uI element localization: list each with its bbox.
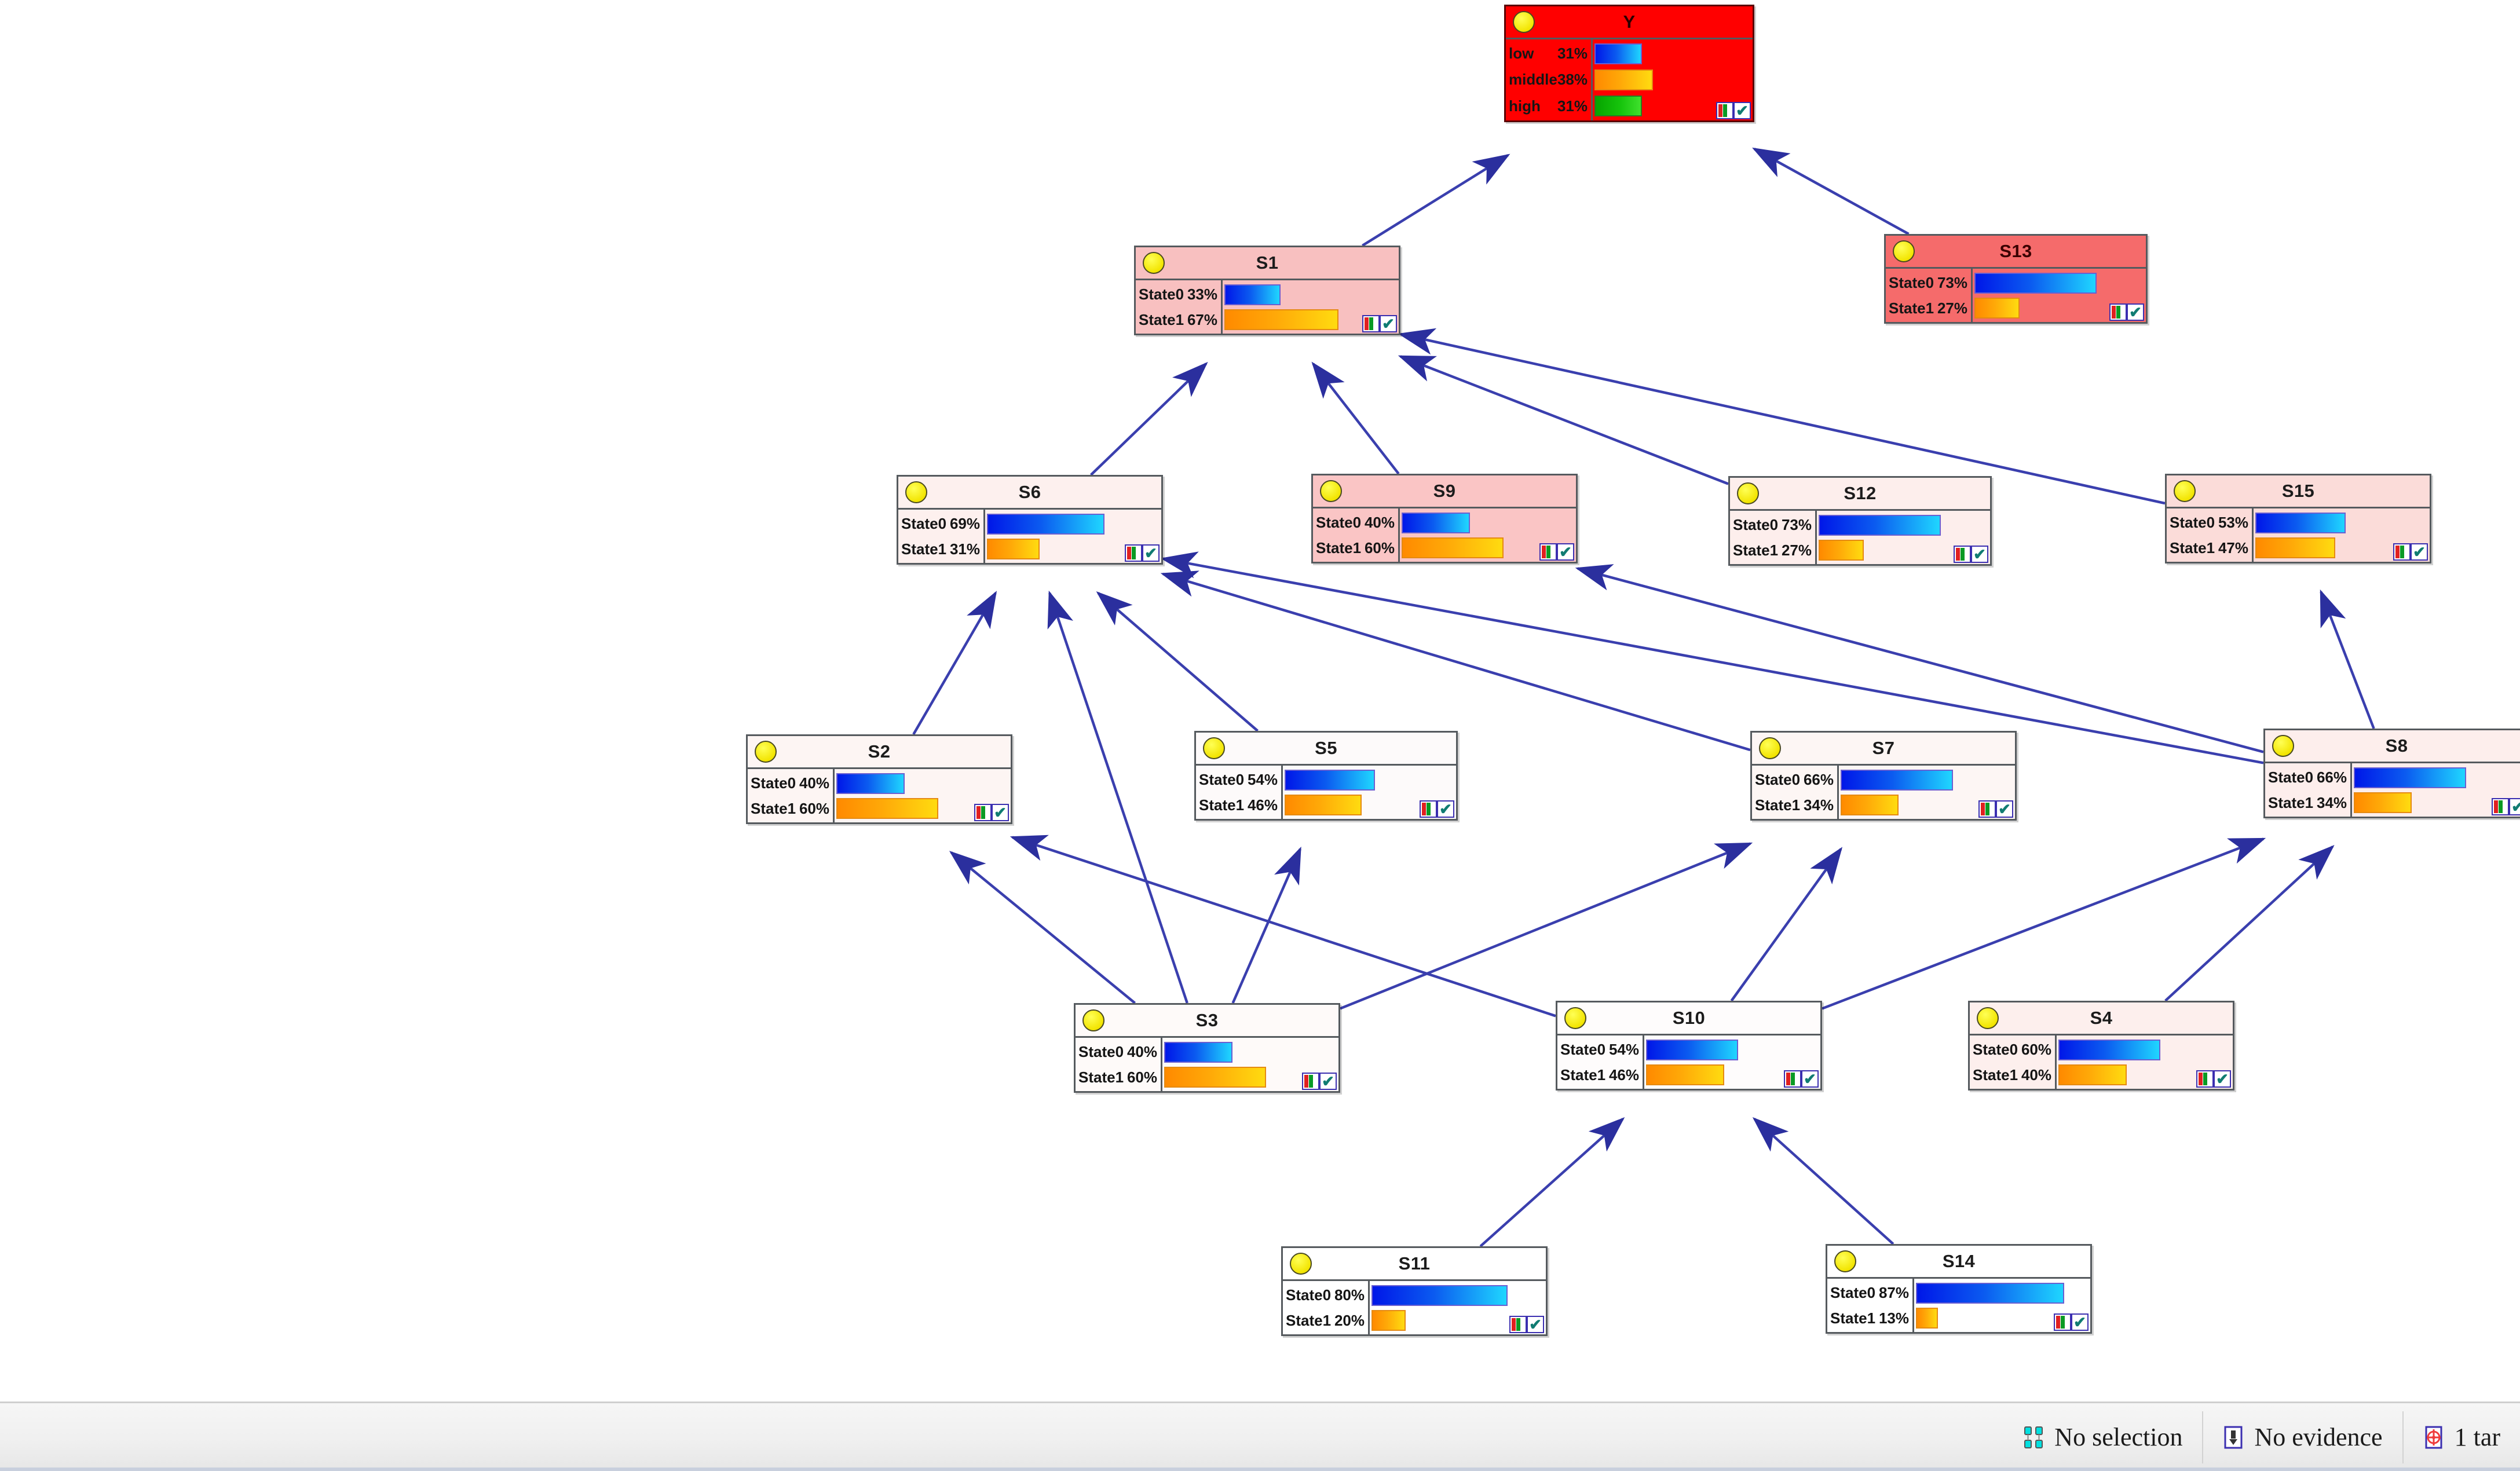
monitor-grid-icon[interactable] — [1954, 546, 1971, 563]
state-bar-row — [1973, 272, 2146, 294]
node-header: S9 — [1313, 475, 1576, 508]
state-bar-orange — [2354, 792, 2412, 813]
state-bar-row — [1817, 514, 1990, 536]
edge-s12-to-s1 — [1400, 356, 1728, 484]
state-bar-blue — [1974, 273, 2097, 294]
node-state-labels: low31%middle38%high31% — [1506, 39, 1593, 120]
node-header: S1 — [1136, 247, 1399, 280]
bayesian-network-canvas[interactable]: Ylow31%middle38%high31%✔S1State033%State… — [0, 0, 2520, 1402]
node-header: S5 — [1196, 733, 1456, 766]
node-body: State073%State127%✔ — [1886, 269, 2146, 322]
node-title: S2 — [748, 736, 1011, 767]
state-label: high — [1509, 97, 1541, 115]
state-row: State054% — [1199, 771, 1281, 789]
node-state-labels: State040%State160% — [1313, 508, 1400, 562]
state-label: State1 — [1286, 1312, 1331, 1330]
state-label: State0 — [2170, 514, 2215, 532]
node-header: S14 — [1827, 1246, 2090, 1279]
state-bar-row — [985, 513, 1161, 535]
node-header: S15 — [2167, 475, 2430, 508]
edge-s3-to-s6 — [1049, 593, 1187, 1003]
state-bar-orange — [1841, 795, 1899, 815]
state-percent: 80% — [1334, 1286, 1365, 1304]
node-state-bars: ✔ — [1370, 1281, 1546, 1334]
edge-s4-to-s8 — [2166, 847, 2333, 1001]
edge-s3-to-s2 — [951, 852, 1135, 1003]
state-percent: 13% — [1879, 1309, 1909, 1327]
state-bar-row — [1644, 1039, 1820, 1061]
monitor-grid-icon[interactable] — [1509, 1316, 1527, 1333]
state-row: State160% — [751, 800, 833, 818]
state-bar-orange — [1819, 540, 1864, 561]
state-label: State1 — [1755, 796, 1800, 814]
node-body: State087%State113%✔ — [1827, 1279, 2090, 1332]
node-tools[interactable]: ✔ — [1302, 1073, 1337, 1090]
state-percent: 47% — [2218, 539, 2248, 557]
node-tools[interactable]: ✔ — [2109, 303, 2144, 321]
state-bar-orange — [1594, 69, 1653, 90]
state-bar-orange — [1916, 1308, 1938, 1329]
state-label: State0 — [1560, 1041, 1605, 1059]
node-header: S11 — [1283, 1248, 1546, 1281]
node-tools[interactable]: ✔ — [1362, 315, 1397, 332]
state-bar-row — [1370, 1285, 1546, 1307]
state-bar-row — [1283, 769, 1456, 791]
check-icon[interactable]: ✔ — [1527, 1316, 1544, 1333]
node-title: S15 — [2167, 475, 2430, 507]
node-body: State040%State160%✔ — [748, 769, 1011, 822]
node-state-labels: State033%State167% — [1136, 280, 1223, 334]
check-icon[interactable]: ✔ — [1996, 800, 2013, 818]
status-bar: No selection No evidence 1 tar — [0, 1402, 2520, 1471]
node-y[interactable]: Ylow31%middle38%high31%✔ — [1504, 5, 1754, 122]
state-percent: 20% — [1334, 1312, 1365, 1330]
edge-s3-to-s7 — [1340, 844, 1750, 1009]
node-tools[interactable]: ✔ — [2393, 543, 2428, 561]
state-percent: 66% — [1804, 771, 1834, 789]
node-s2[interactable]: S2State040%State160%✔ — [746, 734, 1012, 824]
state-bar-row — [2254, 512, 2430, 534]
state-percent: 27% — [1782, 541, 1812, 559]
state-row: State167% — [1139, 311, 1221, 329]
state-bar-blue — [1916, 1283, 2064, 1304]
state-label: State0 — [2268, 769, 2313, 786]
monitor-grid-icon[interactable] — [1420, 800, 1437, 818]
state-row: State087% — [1830, 1284, 1912, 1302]
monitor-grid-icon[interactable] — [1716, 102, 1733, 119]
monitor-grid-icon[interactable] — [1978, 800, 1996, 818]
node-state-labels: State073%State127% — [1730, 511, 1817, 564]
status-selection-label: No selection — [2054, 1422, 2182, 1452]
state-bar-row — [835, 773, 1011, 795]
monitor-grid-icon[interactable] — [974, 804, 992, 821]
status-target-cell[interactable]: 1 tar — [2402, 1411, 2520, 1463]
state-percent: 31% — [1557, 45, 1588, 63]
node-tools[interactable]: ✔ — [1539, 543, 1574, 561]
node-s12[interactable]: S12State073%State127%✔ — [1728, 476, 1992, 566]
node-tools[interactable]: ✔ — [2054, 1313, 2089, 1331]
state-bar-orange — [1164, 1067, 1266, 1088]
node-tools[interactable]: ✔ — [2196, 1070, 2231, 1088]
state-label: State0 — [1973, 1041, 2018, 1059]
state-row: State134% — [2268, 794, 2350, 812]
state-percent: 33% — [1187, 286, 1217, 303]
edge-s10-to-s8 — [1822, 839, 2263, 1008]
state-row: State033% — [1139, 286, 1221, 303]
node-body: State053%State147%✔ — [2167, 508, 2430, 562]
check-icon[interactable]: ✔ — [1319, 1073, 1337, 1090]
state-bar-row — [1914, 1282, 2090, 1304]
state-bar-row — [1593, 69, 1753, 91]
node-state-bars: ✔ — [1223, 280, 1399, 334]
state-bar-blue — [1224, 284, 1281, 305]
state-percent: 54% — [1248, 771, 1278, 789]
state-label: State0 — [1733, 516, 1778, 534]
monitor-grid-icon[interactable] — [2109, 303, 2127, 321]
state-label: State1 — [2268, 794, 2313, 812]
state-percent: 40% — [1365, 514, 1395, 532]
check-icon[interactable]: ✔ — [1733, 102, 1751, 119]
state-row: State066% — [2268, 769, 2350, 786]
state-row: State080% — [1286, 1286, 1368, 1304]
check-icon[interactable]: ✔ — [1142, 544, 1160, 562]
state-row: State073% — [1733, 516, 1815, 534]
state-bar-blue — [1841, 770, 1953, 791]
node-title: S10 — [1557, 1002, 1820, 1034]
state-row: State066% — [1755, 771, 1837, 789]
state-row: State127% — [1733, 541, 1815, 559]
state-label: State1 — [1560, 1066, 1605, 1084]
state-row: State120% — [1286, 1312, 1368, 1330]
edge-s7-to-s6 — [1163, 574, 1750, 750]
state-bar-orange — [836, 798, 938, 819]
node-header: S13 — [1886, 236, 2146, 269]
edge-s10-to-s2 — [1012, 837, 1556, 1016]
node-s10[interactable]: S10State054%State146%✔ — [1556, 1001, 1822, 1091]
state-bar-blue — [1371, 1285, 1508, 1306]
node-s1[interactable]: S1State033%State167%✔ — [1134, 246, 1400, 335]
edge-s13-to-y — [1754, 149, 1908, 234]
state-bar-blue — [836, 773, 905, 794]
state-percent: 27% — [1937, 299, 1967, 317]
state-percent: 31% — [1557, 97, 1588, 115]
state-percent: 40% — [1127, 1043, 1157, 1061]
node-title: S4 — [1970, 1002, 2233, 1034]
node-state-labels: State066%State134% — [1752, 766, 1839, 819]
state-bar-row — [1593, 43, 1753, 65]
state-bar-orange — [1371, 1310, 1406, 1331]
monitor-grid-icon[interactable] — [1539, 543, 1557, 561]
node-state-bars: ✔ — [2352, 763, 2520, 817]
state-row: State146% — [1560, 1066, 1643, 1084]
node-state-bars: ✔ — [1283, 766, 1456, 819]
node-title: S1 — [1136, 247, 1399, 279]
state-percent: 46% — [1248, 796, 1278, 814]
node-title: S7 — [1752, 733, 2015, 764]
state-label: State1 — [1199, 796, 1244, 814]
state-row: low31% — [1509, 45, 1591, 63]
node-title: S11 — [1283, 1248, 1546, 1279]
node-title: S9 — [1313, 475, 1576, 507]
check-icon[interactable]: ✔ — [2214, 1070, 2231, 1088]
state-label: State1 — [901, 540, 946, 558]
edge-s6-to-s1 — [1091, 364, 1206, 475]
state-bar-orange — [2255, 537, 2335, 558]
node-s11[interactable]: S11State080%State120%✔ — [1281, 1246, 1548, 1336]
state-row: State127% — [1889, 299, 1971, 317]
monitor-grid-icon[interactable] — [2196, 1070, 2214, 1088]
state-bar-blue — [1402, 513, 1470, 533]
state-label: State1 — [1316, 539, 1361, 557]
state-label: State0 — [1316, 514, 1361, 532]
state-label: State0 — [751, 774, 796, 792]
state-row: State134% — [1755, 796, 1837, 814]
node-title: S3 — [1076, 1005, 1338, 1036]
state-row: middle38% — [1509, 71, 1591, 89]
node-state-bars: ✔ — [1817, 511, 1990, 564]
state-bar-blue — [1594, 43, 1642, 64]
monitor-grid-icon[interactable] — [2492, 798, 2509, 815]
edge-s8-to-s9 — [1578, 569, 2263, 752]
check-icon[interactable]: ✔ — [2127, 303, 2144, 321]
node-body: State066%State134%✔ — [2265, 763, 2520, 817]
edge-s2-to-s6 — [913, 593, 996, 734]
check-icon[interactable]: ✔ — [2411, 543, 2428, 561]
node-body: low31%middle38%high31%✔ — [1506, 39, 1753, 120]
node-state-labels: State073%State127% — [1886, 269, 1973, 322]
state-label: low — [1509, 45, 1534, 63]
node-tools[interactable]: ✔ — [974, 804, 1009, 821]
state-percent: 69% — [950, 515, 980, 533]
node-title: S5 — [1196, 733, 1456, 764]
monitor-grid-icon[interactable] — [1362, 315, 1380, 332]
node-tools[interactable]: ✔ — [1420, 800, 1454, 818]
node-state-labels: State060%State140% — [1970, 1035, 2057, 1089]
state-bar-orange — [1974, 298, 2020, 319]
node-state-labels: State080%State120% — [1283, 1281, 1370, 1334]
edge-s10-to-s7 — [1732, 849, 1841, 1001]
state-bar-row — [1162, 1041, 1338, 1063]
node-s8[interactable]: S8State066%State134%✔ — [2263, 729, 2520, 818]
state-label: State0 — [1199, 771, 1244, 789]
check-icon[interactable]: ✔ — [2509, 798, 2520, 815]
node-body: State066%State134%✔ — [1752, 766, 2015, 819]
node-header: Y — [1506, 6, 1753, 39]
state-row: State040% — [1078, 1043, 1161, 1061]
node-state-bars: ✔ — [2057, 1035, 2233, 1089]
edge-s11-to-s10 — [1480, 1119, 1623, 1246]
node-s7[interactable]: S7State066%State134%✔ — [1750, 731, 2017, 821]
node-s15[interactable]: S15State053%State147%✔ — [2165, 474, 2431, 563]
check-icon[interactable]: ✔ — [992, 804, 1009, 821]
node-tools[interactable]: ✔ — [1125, 544, 1160, 562]
node-s14[interactable]: S14State087%State113%✔ — [1826, 1244, 2092, 1334]
state-bar-blue — [1164, 1042, 1232, 1063]
node-header: S4 — [1970, 1002, 2233, 1035]
node-state-bars: ✔ — [2254, 508, 2430, 562]
state-row: State131% — [901, 540, 983, 558]
node-s9[interactable]: S9State040%State160%✔ — [1311, 474, 1578, 563]
node-header: S12 — [1730, 478, 1990, 511]
edge-s5-to-s6 — [1098, 593, 1257, 731]
state-label: State1 — [1889, 299, 1934, 317]
state-label: State0 — [901, 515, 946, 533]
state-row: State160% — [1078, 1069, 1161, 1086]
edge-s14-to-s10 — [1754, 1119, 1893, 1244]
node-state-bars: ✔ — [835, 769, 1011, 822]
node-state-bars: ✔ — [1593, 39, 1753, 120]
node-state-bars: ✔ — [1644, 1035, 1820, 1089]
state-percent: 31% — [950, 540, 980, 558]
state-bar-row — [1839, 769, 2015, 791]
node-header: S8 — [2265, 730, 2520, 763]
monitor-grid-icon[interactable] — [1125, 544, 1142, 562]
state-bar-green — [1594, 96, 1642, 116]
node-s3[interactable]: S3State040%State160%✔ — [1074, 1003, 1340, 1093]
state-label: State1 — [1830, 1309, 1875, 1327]
node-body: State073%State127%✔ — [1730, 511, 1990, 564]
state-percent: 34% — [1804, 796, 1834, 814]
state-label: State1 — [1139, 311, 1184, 329]
node-tools[interactable]: ✔ — [1978, 800, 2013, 818]
node-state-bars: ✔ — [1973, 269, 2146, 322]
node-state-labels: State040%State160% — [1076, 1038, 1162, 1091]
state-percent: 60% — [1365, 539, 1395, 557]
edge-layer — [0, 0, 2520, 1402]
edge-s3-to-s5 — [1233, 849, 1300, 1003]
node-state-bars: ✔ — [985, 510, 1161, 563]
check-icon[interactable]: ✔ — [1437, 800, 1454, 818]
status-bar-underline — [0, 1468, 2520, 1471]
check-icon[interactable]: ✔ — [1557, 543, 1574, 561]
selection-nodes-icon — [2023, 1425, 2044, 1450]
node-state-bars: ✔ — [1162, 1038, 1338, 1091]
check-icon[interactable]: ✔ — [1380, 315, 1397, 332]
state-percent: 60% — [2021, 1041, 2051, 1059]
node-s6[interactable]: S6State069%State131%✔ — [897, 475, 1163, 565]
state-row: State073% — [1889, 274, 1971, 292]
check-icon[interactable]: ✔ — [2071, 1313, 2089, 1331]
node-state-labels: State066%State134% — [2265, 763, 2352, 817]
node-header: S7 — [1752, 733, 2015, 766]
node-tools[interactable]: ✔ — [1509, 1316, 1544, 1333]
node-body: State069%State131%✔ — [898, 510, 1161, 563]
node-title: S6 — [898, 477, 1161, 508]
node-state-bars: ✔ — [1400, 508, 1576, 562]
state-percent: 46% — [1609, 1066, 1639, 1084]
status-selection-cell[interactable]: No selection — [2003, 1411, 2202, 1463]
state-bar-row — [1400, 512, 1576, 534]
state-bar-orange — [1224, 309, 1338, 330]
state-percent: 87% — [1879, 1284, 1909, 1302]
node-header: S6 — [898, 477, 1161, 510]
edge-s9-to-s1 — [1313, 364, 1399, 474]
node-title: Y — [1506, 6, 1753, 38]
state-label: State0 — [1755, 771, 1800, 789]
state-percent: 73% — [1937, 274, 1967, 292]
state-row: State054% — [1560, 1041, 1643, 1059]
state-bar-blue — [1285, 770, 1375, 791]
node-tools[interactable]: ✔ — [1784, 1070, 1819, 1088]
state-bar-blue — [987, 514, 1104, 535]
state-label: middle — [1509, 71, 1557, 89]
node-s13[interactable]: S13State073%State127%✔ — [1884, 234, 2148, 324]
status-evidence-cell[interactable]: No evidence — [2202, 1411, 2402, 1463]
node-state-labels: State069%State131% — [898, 510, 985, 563]
node-body: State080%State120%✔ — [1283, 1281, 1546, 1334]
node-state-labels: State040%State160% — [748, 769, 835, 822]
state-bar-blue — [2354, 767, 2466, 788]
node-title: S14 — [1827, 1246, 2090, 1277]
state-percent: 60% — [799, 800, 829, 818]
state-percent: 38% — [1557, 71, 1588, 89]
node-body: State054%State146%✔ — [1196, 766, 1456, 819]
state-percent: 73% — [1782, 516, 1812, 534]
node-s4[interactable]: S4State060%State140%✔ — [1968, 1001, 2234, 1091]
state-percent: 34% — [2317, 794, 2347, 812]
state-row: State147% — [2170, 539, 2252, 557]
monitor-grid-icon[interactable] — [2054, 1313, 2071, 1331]
state-label: State1 — [1733, 541, 1778, 559]
state-row: State069% — [901, 515, 983, 533]
node-state-bars: ✔ — [1914, 1279, 2090, 1332]
monitor-grid-icon[interactable] — [2393, 543, 2411, 561]
state-row: State040% — [751, 774, 833, 792]
node-state-labels: State054%State146% — [1196, 766, 1283, 819]
evidence-icon — [2223, 1425, 2244, 1450]
state-percent: 54% — [1609, 1041, 1639, 1059]
state-bar-orange — [1646, 1064, 1724, 1085]
state-row: State053% — [2170, 514, 2252, 532]
state-row: State160% — [1316, 539, 1398, 557]
state-percent: 60% — [1127, 1069, 1157, 1086]
node-title: S12 — [1730, 478, 1990, 509]
monitor-grid-icon[interactable] — [1784, 1070, 1801, 1088]
node-title: S8 — [2265, 730, 2520, 762]
node-body: State060%State140%✔ — [1970, 1035, 2233, 1089]
state-bar-row — [1223, 284, 1399, 306]
state-percent: 53% — [2218, 514, 2248, 532]
node-body: State040%State160%✔ — [1076, 1038, 1338, 1091]
check-icon[interactable]: ✔ — [1801, 1070, 1819, 1088]
state-bar-row — [2352, 767, 2520, 789]
state-bar-blue — [1646, 1040, 1738, 1060]
node-title: S13 — [1886, 236, 2146, 267]
node-state-bars: ✔ — [1839, 766, 2015, 819]
node-body: State033%State167%✔ — [1136, 280, 1399, 334]
node-header: S3 — [1076, 1005, 1338, 1038]
node-state-labels: State054%State146% — [1557, 1035, 1644, 1089]
node-s5[interactable]: S5State054%State146%✔ — [1194, 731, 1458, 821]
state-bar-orange — [1285, 795, 1362, 815]
status-target-label: 1 tar — [2455, 1422, 2500, 1452]
check-icon[interactable]: ✔ — [1971, 546, 1988, 563]
node-body: State054%State146%✔ — [1557, 1035, 1820, 1089]
state-label: State0 — [1139, 286, 1184, 303]
state-percent: 66% — [2317, 769, 2347, 786]
edge-s1-to-y — [1362, 155, 1508, 246]
state-label: State1 — [2170, 539, 2215, 557]
state-percent: 40% — [799, 774, 829, 792]
monitor-grid-icon[interactable] — [1302, 1073, 1319, 1090]
node-tools[interactable]: ✔ — [1954, 546, 1988, 563]
state-percent: 40% — [2021, 1066, 2051, 1084]
state-label: State0 — [1286, 1286, 1331, 1304]
state-label: State1 — [1078, 1069, 1124, 1086]
state-label: State0 — [1830, 1284, 1875, 1302]
node-tools[interactable]: ✔ — [1716, 102, 1751, 119]
node-tools[interactable]: ✔ — [2492, 798, 2520, 815]
